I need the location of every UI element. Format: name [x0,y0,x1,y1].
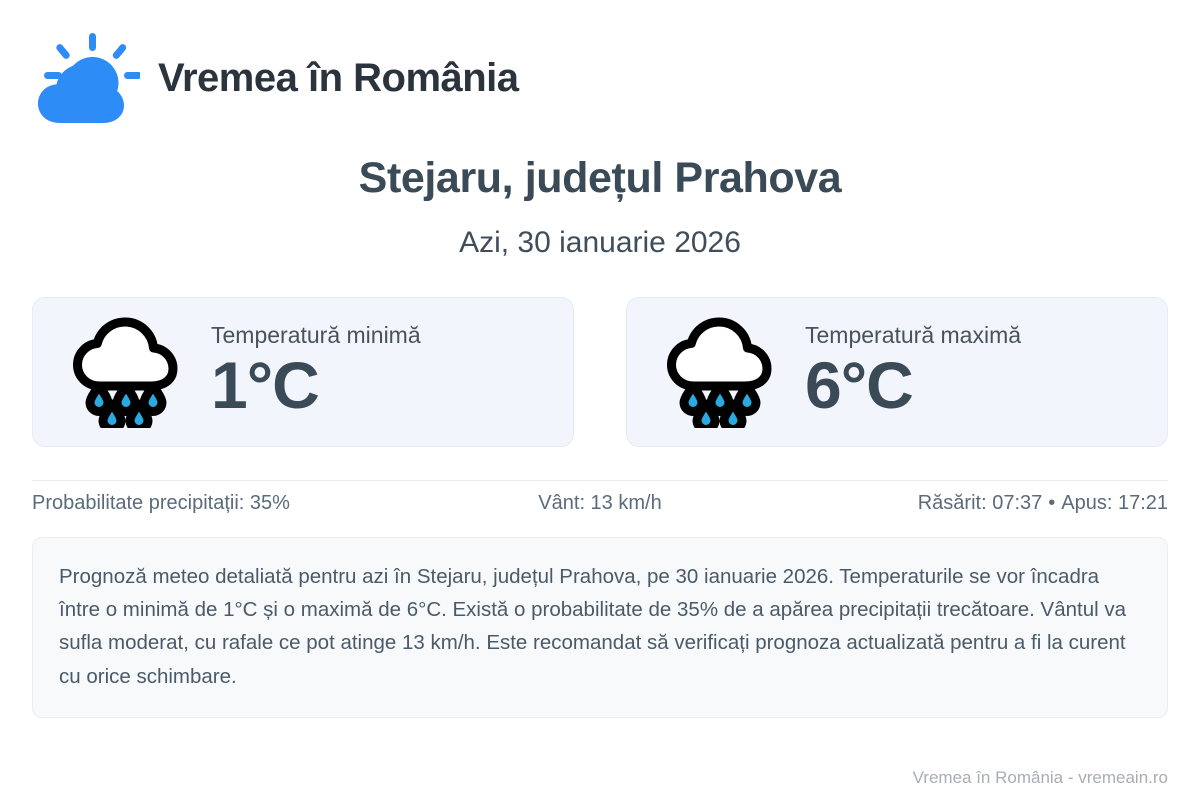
temperature-card-min: Temperatură minimă 1°C [32,297,574,447]
rain-cloud-icon [67,316,185,428]
site-header: Vremea în România [32,0,1168,110]
page-subtitle: Azi, 30 ianuarie 2026 [32,226,1168,261]
stat-sun: Răsărit: 07:37•Apus: 17:21 [789,492,1168,515]
stat-sunrise: Răsărit: 07:37 [918,492,1043,514]
stat-wind: Vânt: 13 km/h [411,492,790,515]
stat-precipitation: Probabilitate precipitații: 35% [32,492,411,515]
site-title: Vremea în România [158,55,519,102]
stat-sunset: Apus: 17:21 [1061,492,1168,514]
weather-page: Vremea în România Stejaru, județul Praho… [0,0,1200,800]
footer-credit: Vremea în România - vremeain.ro [913,768,1168,788]
temperature-cards: Temperatură minimă 1°C Temperatură maxim… [32,297,1168,447]
temperature-value-min: 1°C [211,350,421,421]
temperature-info-max: Temperatură maximă 6°C [805,323,1021,422]
temperature-info-min: Temperatură minimă 1°C [211,323,421,422]
stats-row: Probabilitate precipitații: 35% Vânt: 13… [32,481,1168,527]
temperature-label-min: Temperatură minimă [211,323,421,348]
title-block: Stejaru, județul Prahova Azi, 30 ianuari… [32,154,1168,261]
stat-separator: • [1042,492,1061,514]
temperature-value-max: 6°C [805,350,1021,421]
sun-behind-cloud-icon [32,31,140,127]
forecast-description: Prognoză meteo detaliată pentru azi în S… [32,537,1168,718]
rain-cloud-icon [661,316,779,428]
temperature-label-max: Temperatură maximă [805,323,1021,348]
page-title: Stejaru, județul Prahova [32,154,1168,203]
temperature-card-max: Temperatură maximă 6°C [626,297,1168,447]
